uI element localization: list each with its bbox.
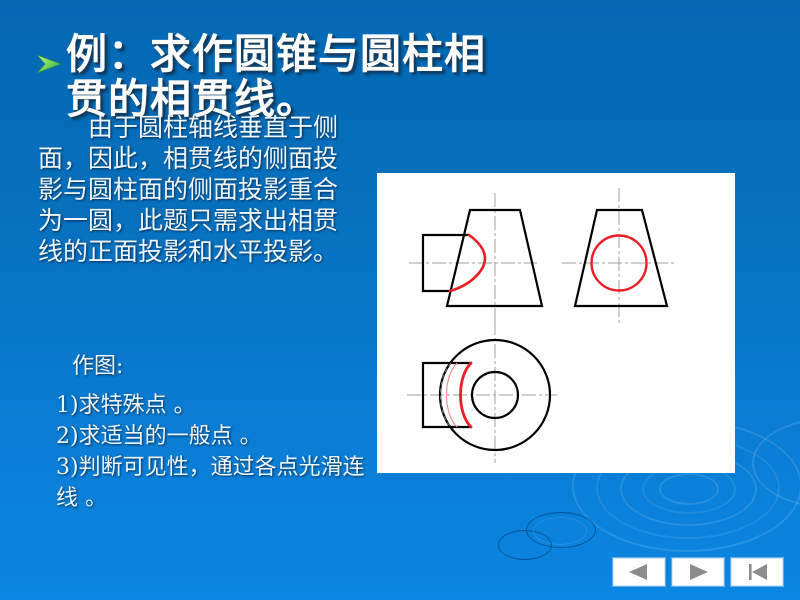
ripple-ring-decoration	[533, 517, 587, 545]
top-view	[407, 321, 557, 463]
green-arrow-bullet-icon	[36, 54, 62, 74]
nav-next-button[interactable]	[672, 558, 724, 586]
triangle-right-icon	[685, 563, 711, 581]
slide-title-block: 例：求作圆锥与圆柱相贯的相贯线。	[30, 32, 500, 122]
step-item-1: 1)求特殊点 。	[56, 390, 380, 421]
steps-heading: 作图:	[72, 352, 380, 382]
ripple-ring-decoration	[659, 473, 719, 505]
technical-drawing-panel	[377, 173, 735, 473]
step-item-3: 3)判断可见性，通过各点光滑连线 。	[56, 452, 380, 514]
ripple-ring-dark-decoration	[526, 512, 596, 548]
nav-previous-button[interactable]	[613, 558, 665, 586]
nav-first-button[interactable]	[731, 558, 783, 586]
side-view	[562, 188, 677, 325]
front-view	[409, 193, 542, 325]
skip-to-start-icon	[744, 563, 770, 581]
ripple-ring-decoration	[752, 418, 800, 508]
triangle-left-icon	[626, 563, 652, 581]
ripple-ring-dark-decoration	[498, 530, 552, 560]
step-item-2: 2)求适当的一般点 。	[56, 421, 380, 452]
steps-block: 作图: 1)求特殊点 。 2)求适当的一般点 。 3)判断可见性，通过各点光滑连…	[50, 352, 380, 514]
slide-canvas: 例：求作圆锥与圆柱相贯的相贯线。 由于圆柱轴线垂直于侧面，因此，相贯线的侧面投影…	[0, 0, 800, 600]
page-title: 例：求作圆锥与圆柱相贯的相贯线。	[66, 32, 500, 122]
navigation-bar	[613, 558, 783, 586]
technical-drawing-svg	[377, 173, 735, 473]
body-paragraph: 由于圆柱轴线垂直于侧面，因此，相贯线的侧面投影与圆柱面的侧面投影重合为一圆，此题…	[38, 112, 356, 267]
